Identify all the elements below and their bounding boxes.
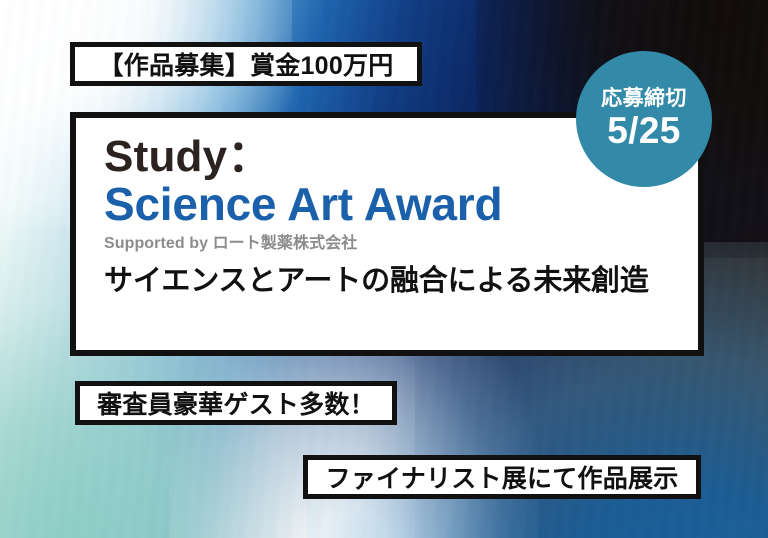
deadline-date: 5/25 (607, 112, 681, 151)
deadline-badge: 応募締切 5/25 (576, 51, 712, 187)
title-award: Science Art Award (104, 180, 682, 230)
poster-canvas: 【作品募集】賞金100万円 Study： Science Art Award S… (0, 0, 768, 538)
badge-judges-label: 審査員豪華ゲスト多数！ (97, 385, 375, 421)
deadline-label: 応募締切 (601, 87, 687, 110)
badge-exhibit: ファイナリスト展にて作品展示 (303, 455, 701, 499)
badge-prize-label: 【作品募集】賞金100万円 (99, 46, 394, 82)
supported-by-text: Supported by ロート製薬株式会社 (104, 234, 682, 255)
tagline-text: サイエンスとアートの融合による未来創造 (104, 263, 682, 299)
badge-judges: 審査員豪華ゲスト多数！ (75, 381, 397, 425)
badge-prize: 【作品募集】賞金100万円 (70, 42, 422, 86)
badge-exhibit-label: ファイナリスト展にて作品展示 (325, 459, 678, 495)
